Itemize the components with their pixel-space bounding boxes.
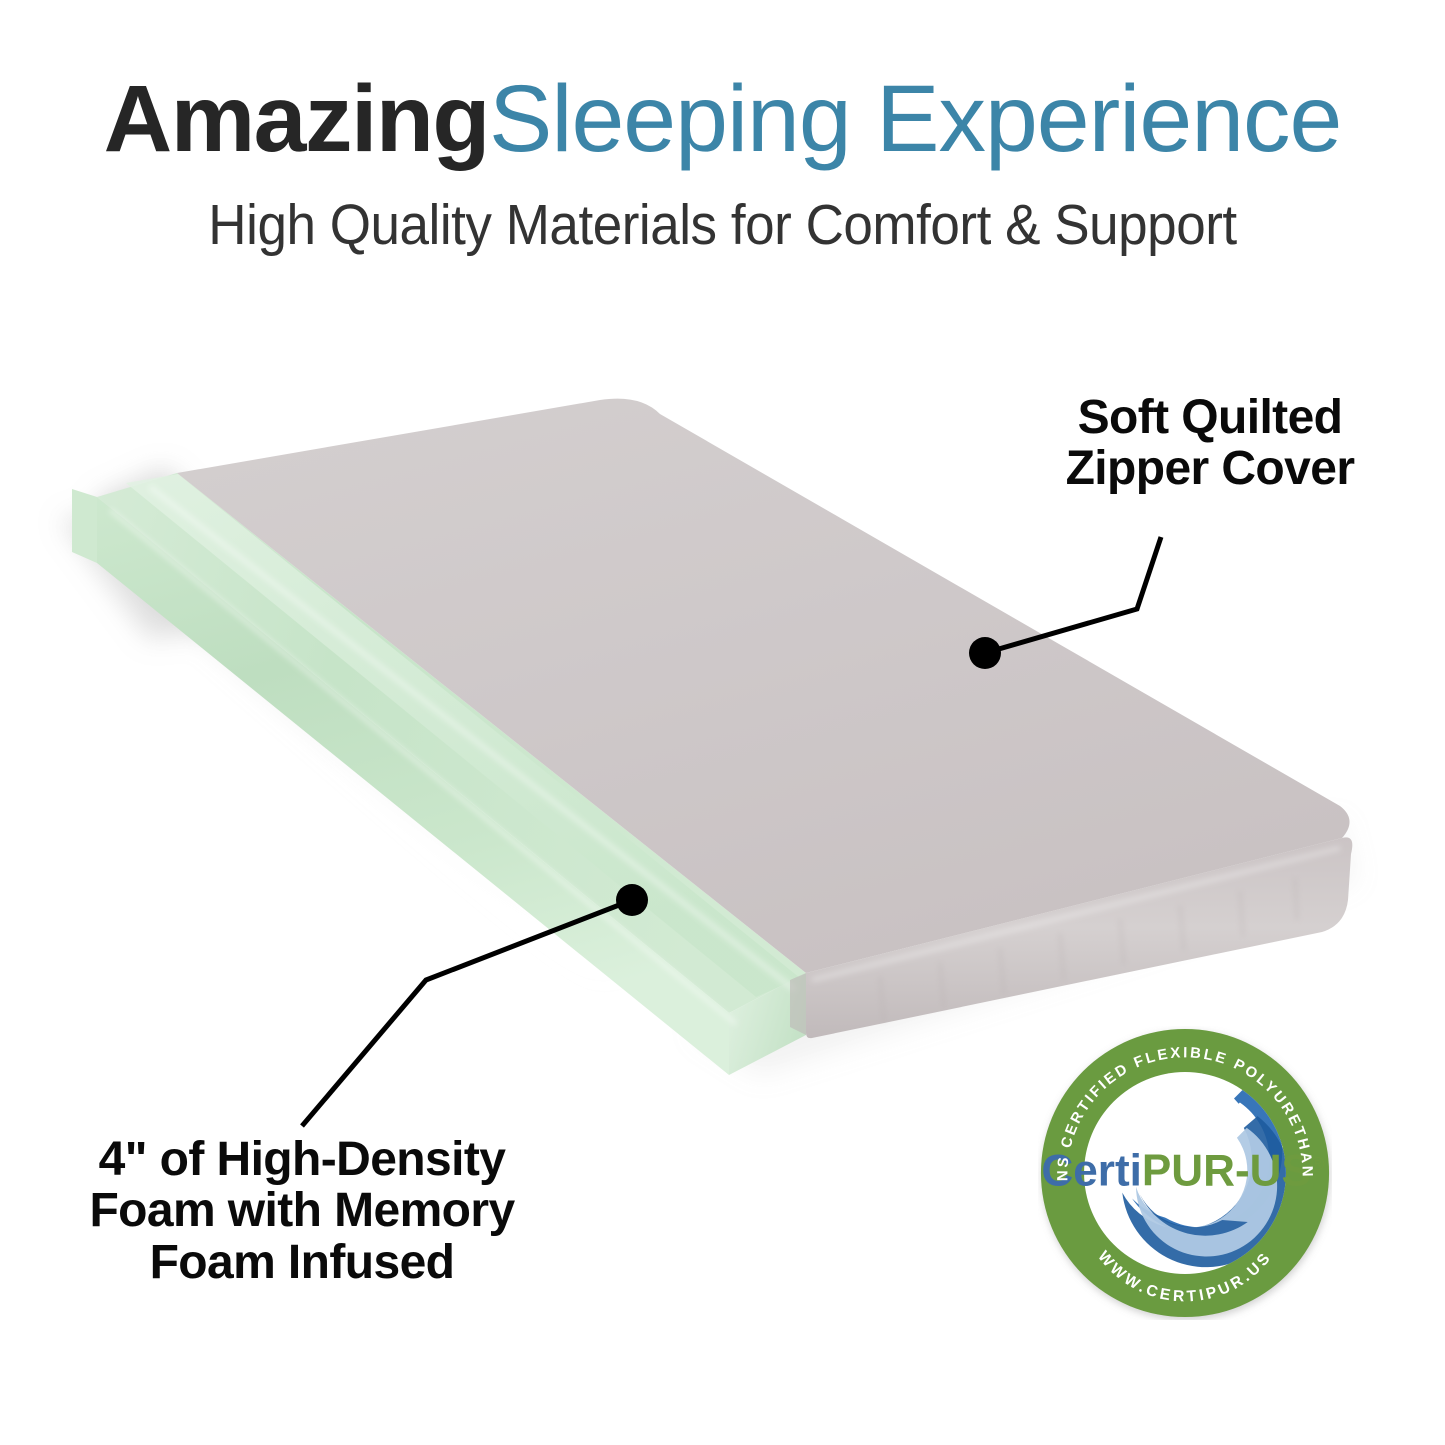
callout-label-high-density-foam: 4" of High-Density Foam with Memory Foam… (22, 1134, 582, 1288)
page-title: AmazingSleeping Experience (0, 72, 1445, 167)
callout-marker-cover[interactable] (969, 637, 1001, 669)
page-subtitle: High Quality Materials for Comfort & Sup… (51, 192, 1395, 258)
foam-front-face (97, 497, 729, 1075)
foam-right-end (729, 973, 806, 1075)
foam-core-layer (72, 473, 806, 1075)
callout-marker-foam[interactable] (616, 884, 648, 916)
cover-seam-highlight (812, 848, 1340, 980)
product-drop-shadow (60, 468, 1355, 1075)
cover-quilt-texture (880, 878, 1297, 1022)
callout-leaders (302, 537, 1161, 1126)
foam-highlight-1 (110, 510, 736, 1024)
badge-wordmark-purus: PUR-US (1142, 1147, 1311, 1196)
leader-line-cover (985, 537, 1161, 653)
badge-wordmark: CertiPUR-US® (1041, 1147, 1325, 1196)
cover-side-wall (806, 837, 1352, 1038)
foam-crease-bevel (126, 474, 800, 997)
certipur-us-badge: CertiPUR-US® CONTAINS CERTIFIED FLEXIBLE… (1038, 1026, 1332, 1320)
foam-highlight-2 (150, 487, 795, 990)
page-title-accent: Sleeping Experience (489, 66, 1341, 172)
foam-left-end (72, 489, 97, 563)
infographic-canvas: AmazingSleeping Experience High Quality … (0, 0, 1445, 1445)
leader-line-foam (302, 900, 632, 1126)
callout-label-soft-quilted-zipper-cover: Soft Quilted Zipper Cover (1010, 392, 1410, 495)
foam-top-strip (97, 473, 806, 1013)
svg-text:CertiPUR-US®: CertiPUR-US® (1041, 1147, 1325, 1196)
page-title-bold: Amazing (104, 66, 489, 172)
cover-left-edge (790, 973, 806, 1035)
